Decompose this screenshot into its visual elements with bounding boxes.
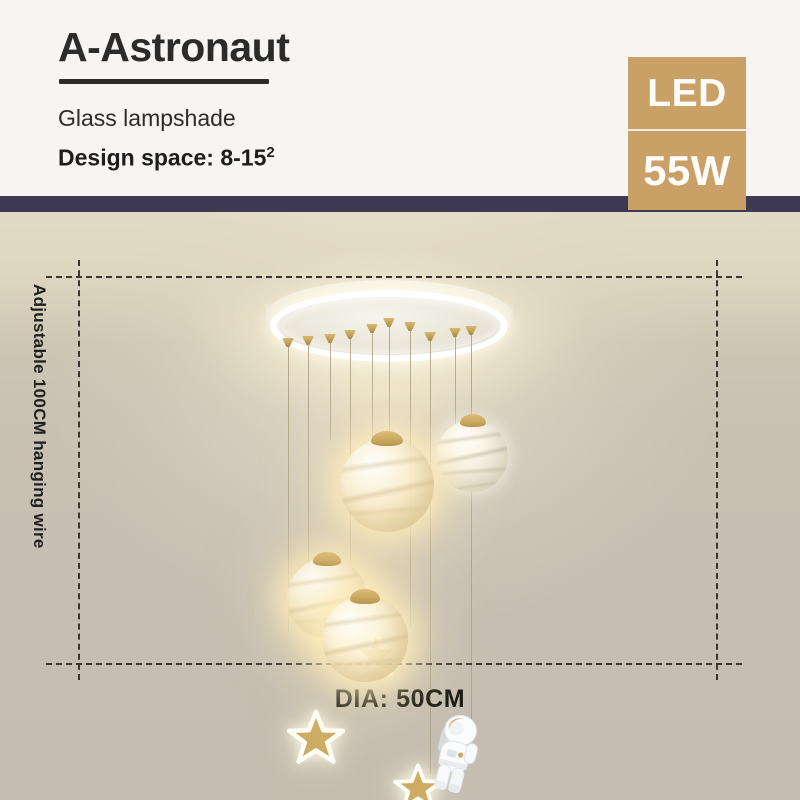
suspension-wire [455,334,456,426]
star-pendant-left [288,710,344,764]
wattage-badge: 55W [628,131,746,210]
design-space-text: Design space: 8-152 [58,144,275,172]
dimension-line-left [78,260,80,680]
title-underline-rule [59,79,269,84]
star-icon [288,710,344,764]
suspension-wire [389,324,390,442]
hanging-wire-dimension-text: Adjustable 100CM hanging wire [29,284,49,549]
glass-globe-warm-large [340,438,434,532]
product-spec-image: A-Astronaut Glass lampshade Design space… [0,0,800,800]
led-badge: LED [628,57,746,129]
design-space-superscript: 2 [266,144,274,161]
suspension-wire [471,332,472,726]
product-subtitle: Glass lampshade [58,105,236,132]
diameter-dimension-label: DIA: 50CM [0,685,800,714]
hanging-wire-dimension-label: Adjustable 100CM hanging wire [20,284,58,654]
glass-globe-cool-upper [436,420,508,492]
globe-gold-cap [460,414,486,427]
globe-gold-cap [371,431,403,446]
suspension-wire [372,330,373,442]
glass-globe-warm-lower-right [322,596,408,682]
page-title: A-Astronaut [58,24,289,71]
dimension-line-right [716,260,718,680]
suspension-wire [330,340,331,440]
dimension-line-top [46,276,742,278]
design-space-value: Design space: 8-15 [58,145,266,171]
globe-gold-cap [350,589,380,604]
spec-badge-group: LED 55W [628,57,746,210]
suspension-wire [308,342,309,564]
globe-gold-cap [313,552,341,566]
product-photo-scene: Adjustable 100CM hanging wire DIA: 50CM [0,212,800,800]
